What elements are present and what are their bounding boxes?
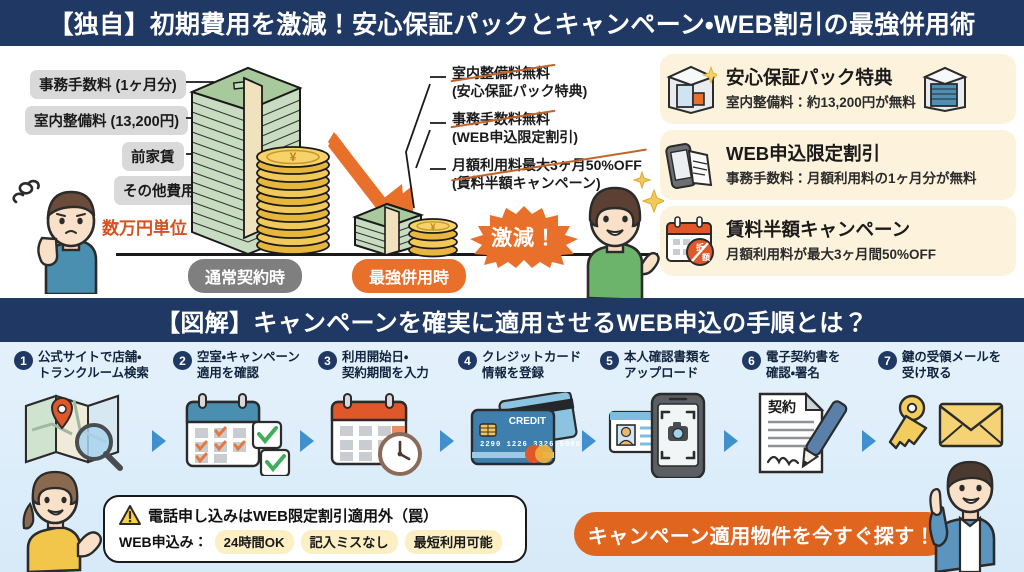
warning-chip-0: 24時間OK <box>215 530 294 554</box>
step-arrow-5 <box>724 430 738 452</box>
storage-unit-open-icon <box>660 63 722 115</box>
step-2-number: 2 <box>173 351 192 370</box>
contract-doc-label: 契約 <box>768 399 796 415</box>
step-1-label: 公式サイトで店舗・ トランクルーム検索 <box>38 350 149 381</box>
credit-card-brand: CREDIT <box>509 416 546 427</box>
feature-card-hangaku[interactable]: 折 額 賃料半額キャンペーン 月額利用料が最大3ヶ月間50%OFF <box>660 206 1016 276</box>
svg-text:額: 額 <box>701 252 711 262</box>
storage-unit-closed-icon <box>916 65 974 113</box>
calendar-check-icon <box>183 392 293 476</box>
step-arrow-6 <box>862 430 876 452</box>
svg-text:¥: ¥ <box>430 222 435 232</box>
warning-callout-box: 電話申し込みはWEB限定割引適用外（罠） WEB申込み： 24時間OK 記入ミス… <box>103 495 527 563</box>
cost-label-1: 室内整備料 (13,200円) <box>25 106 188 135</box>
step-2[interactable]: 2 空室・キャンペーン 適用を確認 <box>173 350 308 381</box>
map-search-icon <box>22 390 142 474</box>
step-4-number: 4 <box>458 351 477 370</box>
svg-text:¥: ¥ <box>290 150 297 164</box>
step-3-label: 利用開始日・ 契約期間を入力 <box>342 350 429 381</box>
steps-banner-title: 【図解】キャンペーンを確実に適用させるWEB申込の手順とは？ <box>156 303 868 338</box>
stack-tag-combo: 最強併用時 <box>352 259 466 293</box>
happy-person-illustration <box>568 164 664 298</box>
feature-card-0-sub: 室内整備料：約13,200円が無料 <box>726 91 916 111</box>
cta-label: キャンペーン適用物件を今すぐ探す！ <box>588 520 936 549</box>
calendar-clock-icon <box>328 392 436 476</box>
key-mail-icon <box>884 394 1012 456</box>
step-5-number: 5 <box>600 351 619 370</box>
pointing-man-illustration <box>920 448 1024 572</box>
step-4-label: クレジットカード 情報を登録 <box>482 350 581 381</box>
step-1[interactable]: 1 公式サイトで店舗・ トランクルーム検索 <box>14 350 164 381</box>
step-2-label: 空室・キャンペーン 適用を確認 <box>197 350 300 381</box>
web-application-steps-section: 1 公式サイトで店舗・ トランクルーム検索 2 空室・キャンペーン 適用を確認 <box>0 342 1024 572</box>
step-5[interactable]: 5 本人確認書類を アップロード <box>600 350 728 381</box>
warning-chip-1: 記入ミスなし <box>301 530 398 554</box>
feature-card-0-title: 安心保証パック特典 <box>726 67 916 89</box>
burst-label: 激減！ <box>470 206 578 268</box>
svg-text:折: 折 <box>696 242 704 252</box>
benefit-note-1-strike: 事務手数料無料 <box>452 110 550 128</box>
feature-card-2-title: 賃料半額キャンペーン <box>726 219 936 241</box>
stack-tag-normal: 通常契約時 <box>188 259 302 293</box>
step-arrow-2 <box>300 430 314 452</box>
step-5-label: 本人確認書類を アップロード <box>624 350 711 381</box>
feature-card-1-title: WEB申込限定割引 <box>726 143 977 165</box>
benefit-note-0-strike: 室内整備料無料 <box>452 64 550 82</box>
cost-label-2: 前家賃 <box>122 142 184 171</box>
benefit-note-1: 事務手数料無料 (WEB申込限定割引) <box>452 110 578 147</box>
step-7-number: 7 <box>878 351 897 370</box>
small-coin-stack-icon: ¥ <box>404 214 462 258</box>
infographic-root: 【独自】初期費用を激減！安心保証パックとキャンペーン・WEB割引の最強併用術 <box>0 0 1024 572</box>
step-arrow-1 <box>152 430 166 452</box>
step-6-label: 電子契約書を 確認・署名 <box>766 350 840 381</box>
warning-prefix: WEB申込み： <box>119 532 208 552</box>
step-4[interactable]: 4 クレジットカード 情報を登録 <box>458 350 588 381</box>
step-arrow-3 <box>440 430 454 452</box>
feature-card-web[interactable]: WEB申込限定割引 事務手数料：月額利用料の1ヶ月分が無料 <box>660 130 1016 200</box>
contract-pen-icon: 契約 <box>752 390 856 478</box>
benefit-note-0: 室内整備料無料 (安心保証パック特典) <box>452 64 587 101</box>
warning-title: 電話申し込みはWEB限定割引適用外（罠） <box>148 505 438 526</box>
header-title: 【独自】初期費用を激減！安心保証パックとキャンペーン・WEB割引の最強併用術 <box>49 5 976 41</box>
benefit-connector-lines <box>396 82 456 214</box>
step-6-number: 6 <box>742 351 761 370</box>
benefit-note-0-sub: (安心保証パック特典) <box>452 83 587 99</box>
mail-glyph <box>940 404 1002 446</box>
step-3[interactable]: 3 利用開始日・ 契約期間を入力 <box>318 350 443 381</box>
calendar-half-price-icon: 折 額 <box>660 215 722 267</box>
steps-banner: 【図解】キャンペーンを確実に適用させるWEB申込の手順とは？ <box>0 298 1024 342</box>
step-7[interactable]: 7 鍵の受領メールを 受け取る <box>878 350 1016 381</box>
cost-comparison-section: 事務手数料 (1ヶ月分) 室内整備料 (13,200円) 前家賃 その他費用 数… <box>0 46 1024 298</box>
benefit-note-1-sub: (WEB申込限定割引) <box>452 129 578 145</box>
cost-label-0: 事務手数料 (1ヶ月分) <box>30 70 186 99</box>
smartphone-document-icon <box>660 139 722 191</box>
burst-badge: 激減！ <box>470 206 578 268</box>
warning-chip-2: 最短利用可能 <box>405 530 502 554</box>
step-7-label: 鍵の受領メールを 受け取る <box>902 350 1001 381</box>
step-3-number: 3 <box>318 351 337 370</box>
feature-card-2-sub: 月額利用料が最大3ヶ月間50%OFF <box>726 243 936 263</box>
step-arrow-4 <box>582 430 596 452</box>
step-6[interactable]: 6 電子契約書を 確認・署名 <box>742 350 860 381</box>
header-banner: 【独自】初期費用を激減！安心保証パックとキャンペーン・WEB割引の最強併用術 <box>0 0 1024 46</box>
warning-triangle-icon <box>119 505 141 525</box>
credit-card-icon: CREDIT 2290 1226 3326 5098 <box>466 392 582 474</box>
id-scan-icon <box>608 390 718 478</box>
step-1-number: 1 <box>14 351 33 370</box>
key-glyph <box>890 396 926 448</box>
cta-search-button[interactable]: キャンペーン適用物件を今すぐ探す！ <box>574 512 949 556</box>
note-leader-0 <box>430 76 446 78</box>
feature-card-anshin[interactable]: 安心保証パック特典 室内整備料：約13,200円が無料 <box>660 54 1016 124</box>
large-coin-stack-icon: ¥ <box>250 144 336 256</box>
feature-card-1-sub: 事務手数料：月額利用料の1ヶ月分が無料 <box>726 167 977 187</box>
